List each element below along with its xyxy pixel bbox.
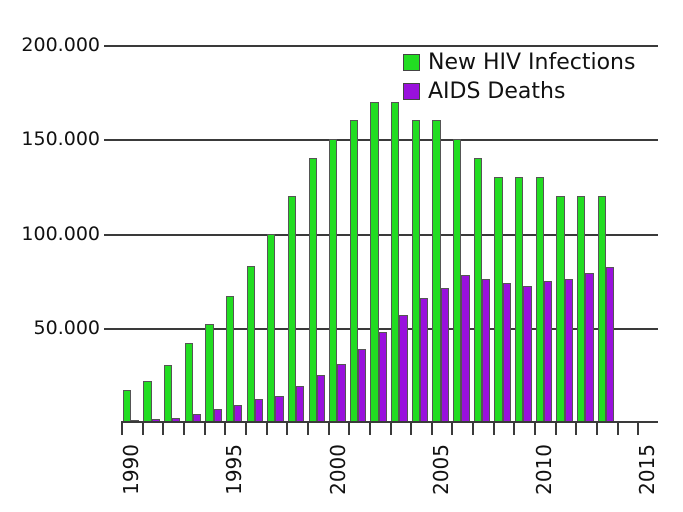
bar-aids-deaths-2002 (379, 332, 387, 422)
x-tick-mark (637, 421, 639, 435)
x-tick-mark (493, 421, 495, 435)
bar-new-hiv-infections-2008 (494, 177, 502, 422)
x-tick-mark (369, 421, 371, 435)
x-tick-mark (183, 421, 185, 435)
bar-new-hiv-infections-2013 (598, 196, 606, 422)
x-tick-mark (555, 421, 557, 435)
bar-aids-deaths-1998 (296, 386, 304, 422)
x-tick-mark (410, 421, 412, 435)
bar-new-hiv-infections-1990 (123, 390, 131, 422)
y-tick-mark (104, 328, 122, 330)
y-axis: 200.000150.000100.00050.000 (0, 0, 100, 512)
legend: New HIV Infections AIDS Deaths (403, 49, 635, 105)
y-tick-mark (104, 139, 122, 141)
x-tick-mark (575, 421, 577, 435)
bar-new-hiv-infections-2001 (350, 120, 358, 422)
legend-label-aids-deaths: AIDS Deaths (428, 81, 565, 103)
bar-new-hiv-infections-2011 (556, 196, 564, 422)
bar-aids-deaths-1999 (317, 375, 325, 422)
x-tick-mark (472, 421, 474, 435)
bar-aids-deaths-2010 (544, 281, 552, 422)
x-tick-mark (224, 421, 226, 435)
x-tick-mark (390, 421, 392, 435)
bar-new-hiv-infections-2004 (412, 120, 420, 422)
x-tick-mark (142, 421, 144, 435)
y-tick-label: 200.000 (4, 34, 100, 56)
bar-aids-deaths-2006 (461, 275, 469, 422)
bar-chart: 200.000150.000100.00050.000 199019952000… (0, 0, 683, 512)
x-tick-label: 1995 (222, 444, 246, 495)
bar-new-hiv-infections-2006 (453, 139, 461, 422)
legend-item-new-hiv-infections: New HIV Infections (403, 49, 635, 76)
x-tick-label: 2005 (429, 444, 453, 495)
y-tick-label: 50.000 (4, 317, 100, 339)
x-tick-mark (431, 421, 433, 435)
y-tick-label: 100.000 (4, 223, 100, 245)
x-tick-mark (328, 421, 330, 435)
x-tick-mark (534, 421, 536, 435)
bar-new-hiv-infections-2012 (577, 196, 585, 422)
x-tick-mark (513, 421, 515, 435)
legend-label-new-hiv-infections: New HIV Infections (428, 52, 635, 74)
x-tick-mark (596, 421, 598, 435)
bar-aids-deaths-2005 (441, 288, 449, 422)
bar-aids-deaths-1995 (234, 405, 242, 422)
bar-aids-deaths-2011 (565, 279, 573, 422)
y-tick-mark (104, 234, 122, 236)
x-tick-mark (266, 421, 268, 435)
x-tick-label: 2015 (635, 444, 659, 495)
bar-aids-deaths-2007 (482, 279, 490, 422)
x-axis-ticks (121, 421, 658, 437)
x-tick-mark (204, 421, 206, 435)
x-tick-label: 2010 (532, 444, 556, 495)
bar-new-hiv-infections-1996 (247, 266, 255, 422)
bar-new-hiv-infections-1997 (267, 234, 275, 423)
bar-aids-deaths-2009 (523, 286, 531, 422)
bar-aids-deaths-2008 (503, 283, 511, 422)
x-tick-label: 1990 (119, 444, 143, 495)
bar-aids-deaths-2012 (585, 273, 593, 422)
x-tick-mark (617, 421, 619, 435)
bar-aids-deaths-2000 (337, 364, 345, 422)
bar-new-hiv-infections-2005 (432, 120, 440, 422)
bar-aids-deaths-2004 (420, 298, 428, 422)
x-tick-mark (451, 421, 453, 435)
x-tick-mark (121, 421, 123, 435)
bar-new-hiv-infections-1993 (185, 343, 193, 422)
y-tick-label: 150.000 (4, 128, 100, 150)
bar-aids-deaths-2001 (358, 349, 366, 423)
x-tick-mark (162, 421, 164, 435)
bar-aids-deaths-1996 (255, 399, 263, 422)
legend-swatch-green (403, 54, 420, 71)
x-tick-mark (286, 421, 288, 435)
bar-new-hiv-infections-1999 (309, 158, 317, 422)
bar-new-hiv-infections-2009 (515, 177, 523, 422)
bar-new-hiv-infections-1992 (164, 365, 172, 422)
bar-new-hiv-infections-2000 (329, 139, 337, 422)
bar-new-hiv-infections-1994 (205, 324, 213, 422)
legend-swatch-purple (403, 83, 420, 100)
bar-aids-deaths-2003 (399, 315, 407, 422)
legend-item-aids-deaths: AIDS Deaths (403, 78, 635, 105)
x-tick-mark (245, 421, 247, 435)
y-tick-mark (104, 45, 122, 47)
x-tick-label: 2000 (326, 444, 350, 495)
bar-aids-deaths-1997 (275, 396, 283, 422)
bar-new-hiv-infections-1998 (288, 196, 296, 422)
x-tick-mark (307, 421, 309, 435)
bar-new-hiv-infections-2010 (536, 177, 544, 422)
bar-aids-deaths-2013 (606, 267, 614, 422)
bar-new-hiv-infections-1995 (226, 296, 234, 422)
bar-new-hiv-infections-2002 (370, 102, 378, 422)
bar-new-hiv-infections-1991 (143, 381, 151, 422)
bar-new-hiv-infections-2007 (474, 158, 482, 422)
x-tick-mark (348, 421, 350, 435)
bar-new-hiv-infections-2003 (391, 102, 399, 422)
